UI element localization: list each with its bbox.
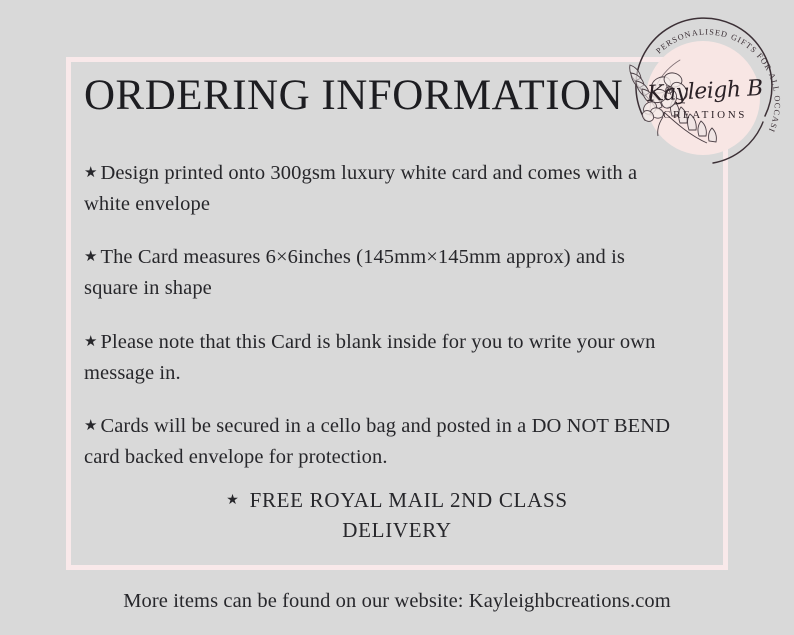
delivery-line-2: DELIVERY <box>342 518 451 542</box>
information-list: ★Design printed onto 300gsm luxury white… <box>84 158 684 495</box>
delivery-line-1: FREE ROYAL MAIL 2ND CLASS <box>250 488 568 512</box>
ordering-information-card: ORDERING INFORMATION ★Design printed ont… <box>0 0 794 635</box>
list-item-text: Cards will be secured in a cello bag and… <box>84 415 670 468</box>
page-title: ORDERING INFORMATION <box>84 74 623 117</box>
list-item-text: The Card measures 6×6inches (145mm×145mm… <box>84 246 625 299</box>
brand-logo: PERSONALISED GIFTS FOR ALL OCCASIONS <box>617 12 793 188</box>
list-item: ★Design printed onto 300gsm luxury white… <box>84 158 684 220</box>
list-item-text: Please note that this Card is blank insi… <box>84 331 656 384</box>
list-item-text: Design printed onto 300gsm luxury white … <box>84 162 637 215</box>
list-item: ★The Card measures 6×6inches (145mm×145m… <box>84 242 684 304</box>
list-item: ★Please note that this Card is blank ins… <box>84 327 684 389</box>
logo-graphic: PERSONALISED GIFTS FOR ALL OCCASIONS <box>617 12 793 188</box>
footer-website-text: More items can be found on our website: … <box>0 590 794 613</box>
star-bullet-icon: ★ <box>84 162 97 185</box>
list-item: ★Cards will be secured in a cello bag an… <box>84 411 684 473</box>
delivery-highlight: ★FREE ROYAL MAIL 2ND CLASS DELIVERY <box>66 486 728 546</box>
star-bullet-icon: ★ <box>226 491 239 511</box>
star-bullet-icon: ★ <box>84 415 97 438</box>
star-bullet-icon: ★ <box>84 246 97 269</box>
star-bullet-icon: ★ <box>84 331 97 354</box>
